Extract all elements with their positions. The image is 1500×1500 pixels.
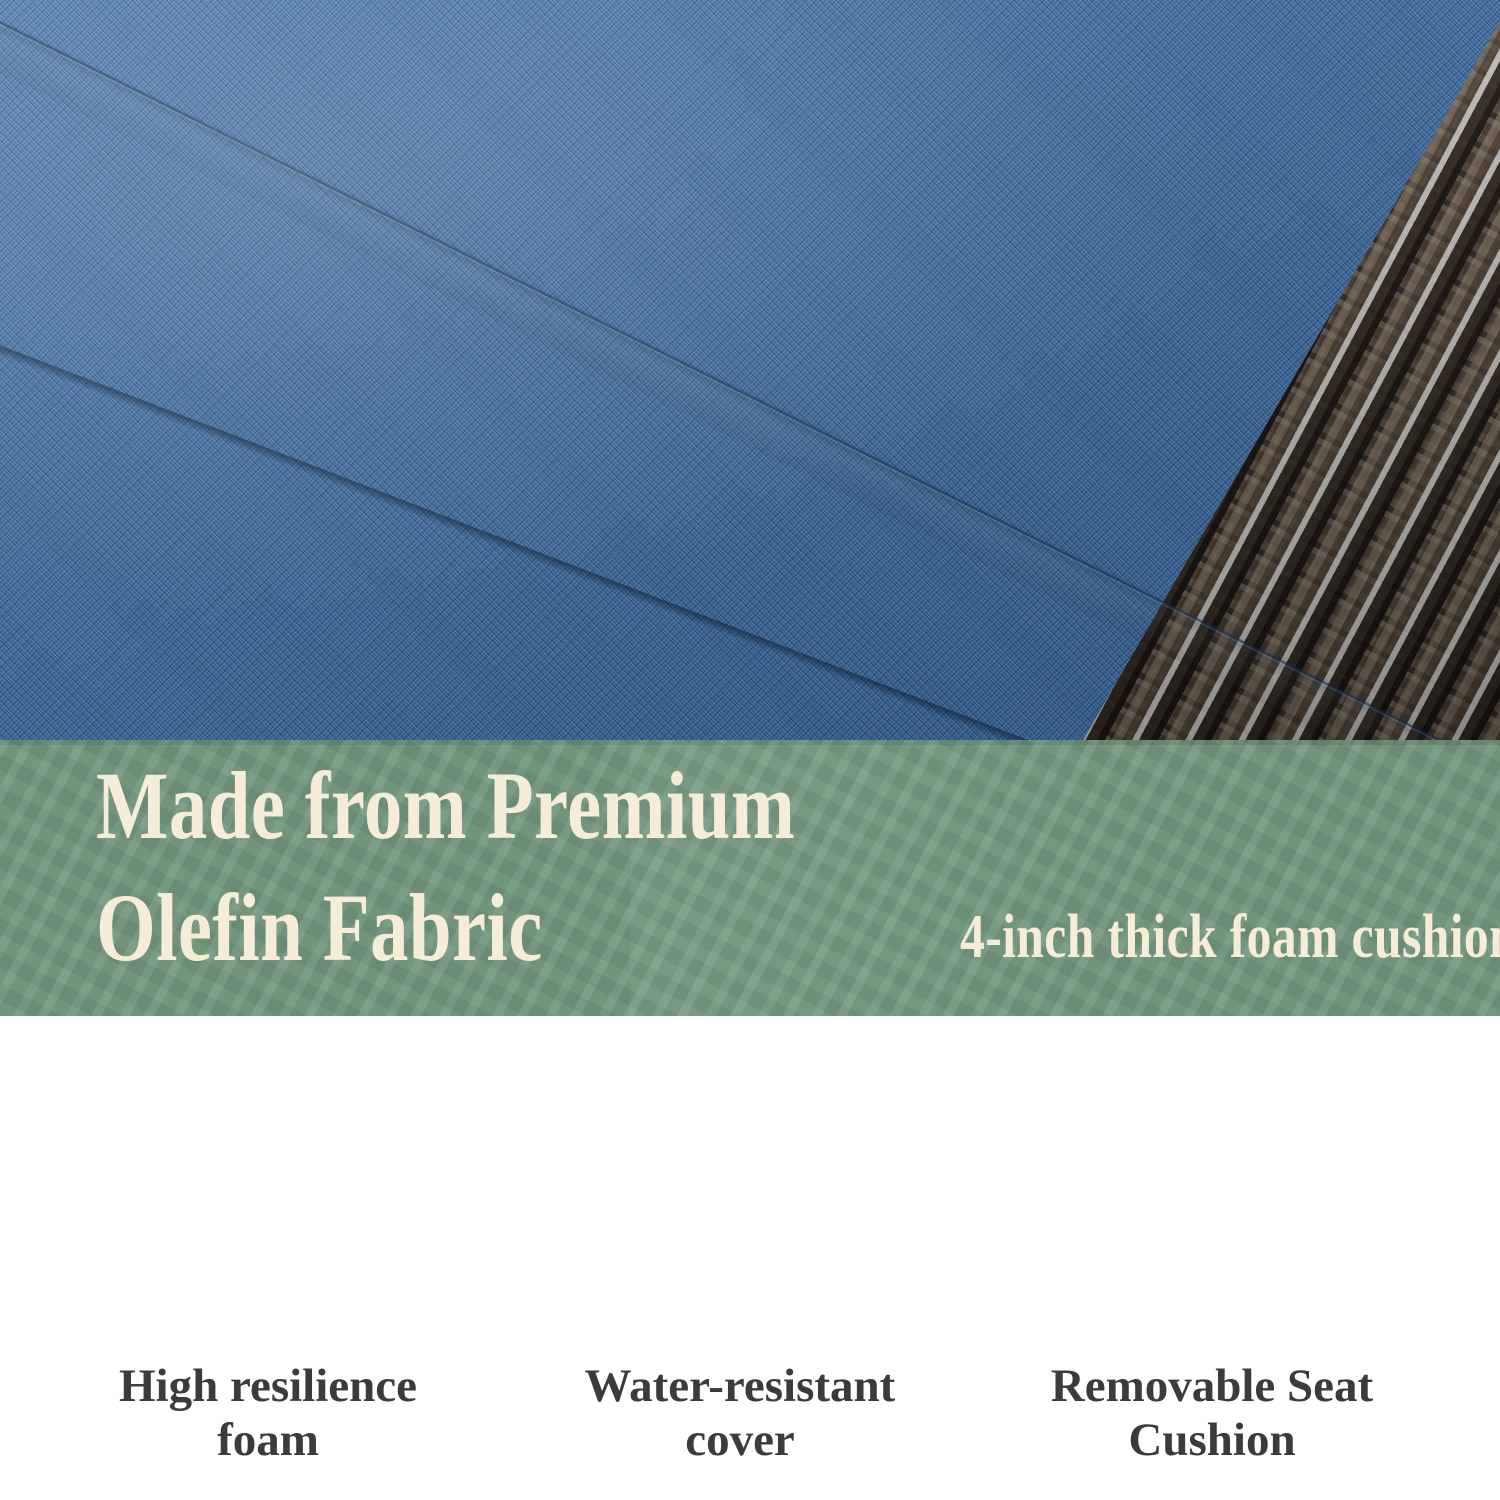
caption-line-1: Removable Seat — [1002, 1360, 1422, 1414]
product-infographic: Made from Premium Olefin Fabric 4-inch t… — [0, 0, 1500, 1500]
feature-caption-zipper: Removable Seat Cushion — [1002, 1360, 1422, 1467]
caption-line-2: foam — [58, 1414, 478, 1468]
caption-line-2: cover — [530, 1414, 950, 1468]
caption-line-2: Cushion — [1002, 1414, 1422, 1468]
caption-line-1: Water-resistant — [530, 1360, 950, 1414]
headline-line-1: Made from Premium — [96, 758, 795, 854]
feature-caption-water: Water-resistant cover — [530, 1360, 950, 1467]
hero-image — [0, 0, 1500, 745]
subheadline-text: 4-inch thick foam cushion — [960, 906, 1500, 968]
caption-line-1: High resilience — [58, 1360, 478, 1414]
feature-caption-foam: High resilience foam — [58, 1360, 478, 1467]
headline-line-2: Olefin Fabric — [96, 880, 543, 976]
